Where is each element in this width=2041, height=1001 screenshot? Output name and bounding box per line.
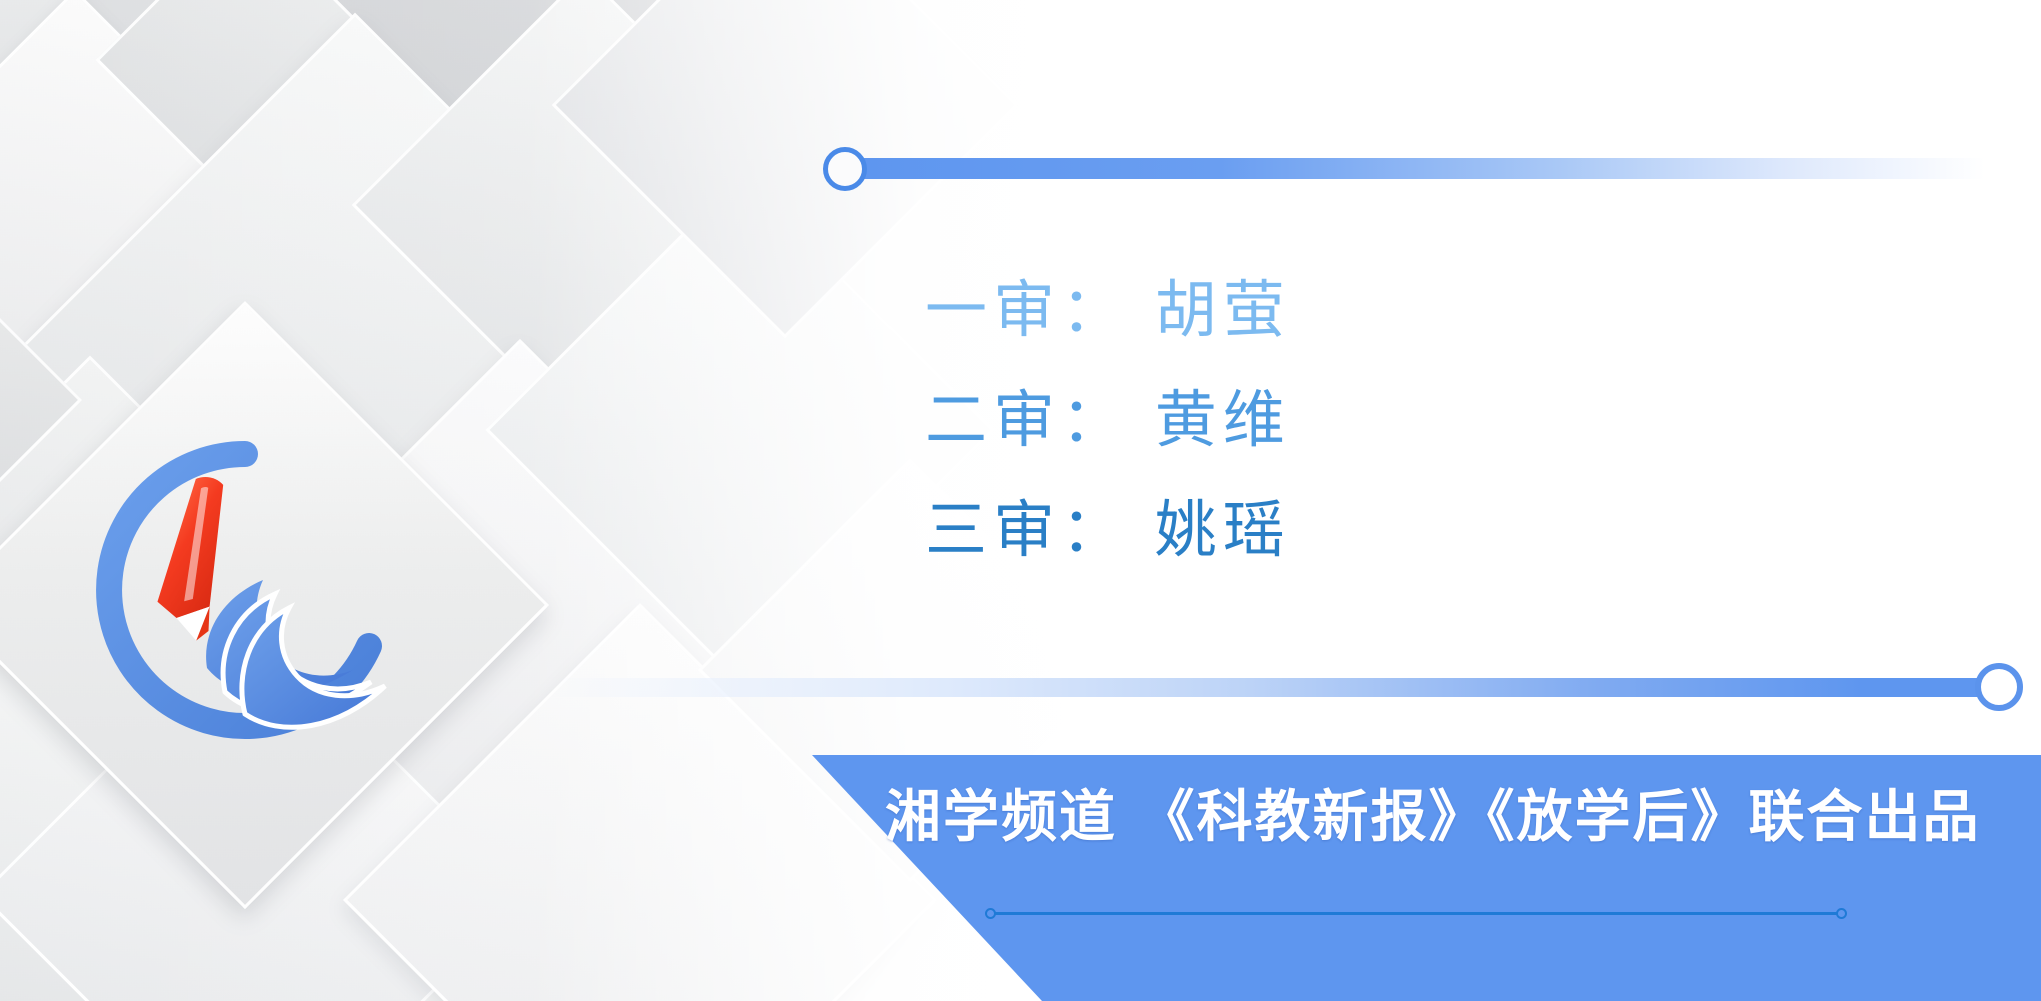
top-connector-ring-icon [823,147,867,191]
banner-divider-dot-left [985,908,996,919]
brand-logo [85,430,405,750]
credits-block: 一审： 胡萤 二审： 黄维 三审： 姚瑶 [925,255,1625,585]
banner-divider-line [995,912,1837,915]
poster-canvas: 一审： 胡萤 二审： 黄维 三审： 姚瑶 湘学频道 《科教新报》《放学后》联合出… [0,0,2041,1001]
credit-line-third-review: 三审： 姚瑶 [925,475,1625,585]
banner-divider-dot-right [1836,908,1847,919]
banner-title: 湘学频道 《科教新报》《放学后》联合出品 [885,757,2041,867]
mid-connector-bar [550,678,2010,697]
credit-line-second-review: 二审： 黄维 [925,365,1625,475]
banner-divider-rule [985,908,1847,918]
top-connector-bar [860,158,1985,179]
credit-line-first-review: 一审： 胡萤 [925,255,1625,365]
mid-connector-ring-icon [1975,663,2023,711]
